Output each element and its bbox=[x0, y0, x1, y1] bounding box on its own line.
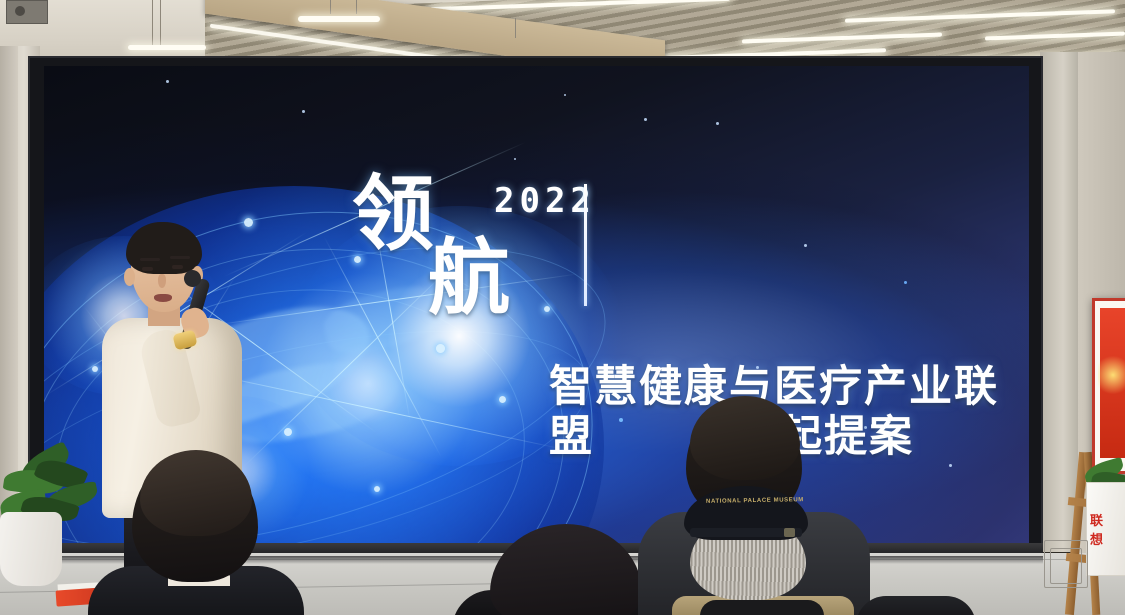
pendant-light bbox=[128, 45, 206, 50]
ceiling-vent bbox=[6, 0, 48, 24]
wire-rack-inner bbox=[1050, 548, 1082, 584]
network-node bbox=[374, 486, 380, 492]
lenovo-label: 联想 bbox=[1090, 510, 1104, 548]
network-node bbox=[499, 396, 506, 403]
speaker-nose bbox=[158, 274, 166, 288]
particle bbox=[644, 118, 647, 121]
particle bbox=[514, 158, 516, 160]
pendant-light bbox=[298, 16, 380, 22]
light-hanging-wire bbox=[515, 18, 516, 38]
audience-shoulders bbox=[856, 596, 976, 615]
particle bbox=[716, 122, 719, 125]
particle bbox=[949, 464, 952, 467]
poster-gold-graphic bbox=[1098, 352, 1125, 398]
slide-title-char-1: 领 bbox=[352, 174, 436, 256]
slide-title-char-2: 航 bbox=[428, 238, 512, 320]
slide-year: 2022 bbox=[494, 184, 596, 218]
speaker-eye bbox=[172, 265, 183, 269]
light-hanging-wire bbox=[356, 0, 357, 14]
light-hanging-wire bbox=[152, 0, 153, 48]
particle bbox=[166, 80, 169, 83]
light-hanging-wire bbox=[330, 0, 331, 14]
network-node bbox=[544, 306, 550, 312]
speaker-ear bbox=[124, 268, 135, 286]
cap-buckle bbox=[784, 528, 795, 537]
speaker-eyebrow bbox=[170, 256, 190, 259]
presentation-photo-scene: 领 航 2022 智慧健康与医疗产业联盟 发起提案 bbox=[0, 0, 1125, 615]
plant-pot bbox=[0, 512, 62, 586]
chair-headrest bbox=[700, 600, 824, 615]
speaker-hair bbox=[126, 222, 202, 274]
speaker-eye bbox=[142, 267, 153, 271]
network-node bbox=[284, 428, 292, 436]
speaker-eyebrow bbox=[140, 258, 160, 261]
particle bbox=[564, 94, 566, 96]
particle bbox=[302, 110, 305, 113]
particle bbox=[804, 244, 807, 247]
particle bbox=[904, 281, 907, 284]
speaker-mouth bbox=[154, 294, 172, 302]
light-hanging-wire bbox=[160, 0, 161, 48]
network-node bbox=[436, 344, 445, 353]
slide-divider-line bbox=[584, 184, 587, 306]
